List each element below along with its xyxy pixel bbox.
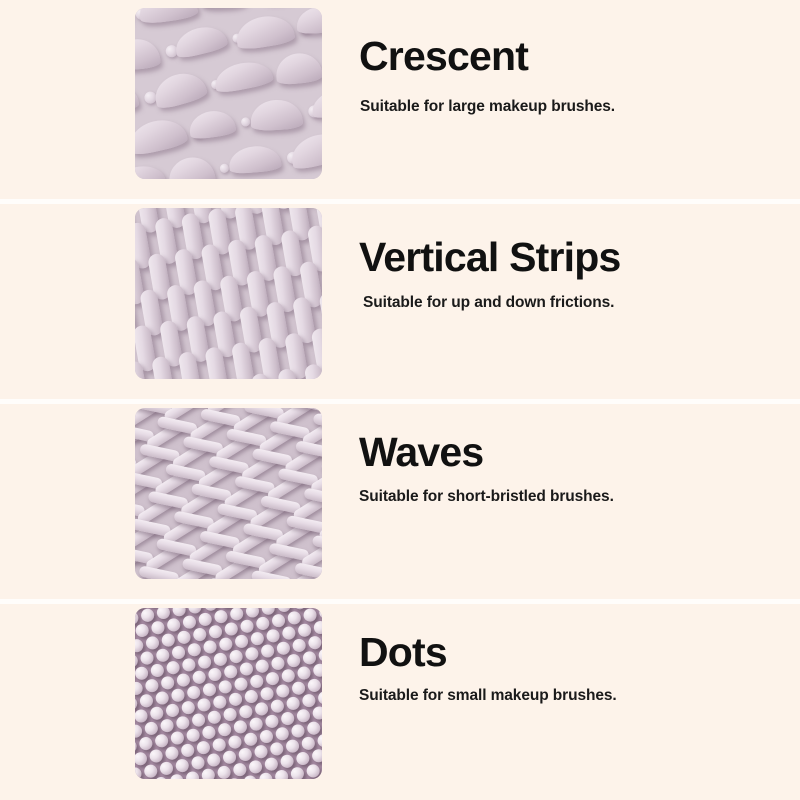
vertical-strips-texture-swatch [135, 208, 322, 379]
feature-title: Waves [359, 432, 483, 473]
feature-list-page: Crescent Suitable for large makeup brush… [0, 0, 800, 799]
dots-swatch-container [135, 608, 322, 779]
feature-row: Waves Suitable for short-bristled brushe… [0, 400, 800, 600]
waves-swatch-container [135, 408, 322, 579]
feature-row: Dots Suitable for small makeup brushes. [0, 600, 800, 800]
feature-title: Vertical Strips [359, 237, 620, 278]
feature-row: Crescent Suitable for large makeup brush… [0, 0, 800, 200]
vertical-strips-swatch-container [135, 208, 322, 379]
feature-title: Crescent [359, 36, 528, 77]
waves-texture-swatch [135, 408, 322, 579]
feature-subtitle: Suitable for up and down frictions. [363, 295, 614, 311]
waves-texture-pattern [135, 408, 322, 579]
waves-text-column: Waves Suitable for short-bristled brushe… [359, 400, 789, 600]
dots-texture-swatch [135, 608, 322, 779]
vertical-strips-text-column: Vertical Strips Suitable for up and down… [359, 200, 789, 400]
feature-subtitle: Suitable for short-bristled brushes. [359, 489, 614, 505]
feature-row: Vertical Strips Suitable for up and down… [0, 200, 800, 400]
dots-text-column: Dots Suitable for small makeup brushes. [359, 600, 789, 800]
dots-texture-pattern [135, 608, 322, 779]
crescent-texture-swatch [135, 8, 322, 179]
crescent-text-column: Crescent Suitable for large makeup brush… [359, 0, 789, 200]
vertical-strips-texture-pattern [135, 208, 322, 379]
feature-title: Dots [359, 632, 447, 673]
feature-subtitle: Suitable for large makeup brushes. [360, 99, 615, 115]
crescent-swatch-container [135, 8, 322, 179]
crescent-texture-pattern [135, 8, 322, 179]
feature-subtitle: Suitable for small makeup brushes. [359, 688, 617, 704]
